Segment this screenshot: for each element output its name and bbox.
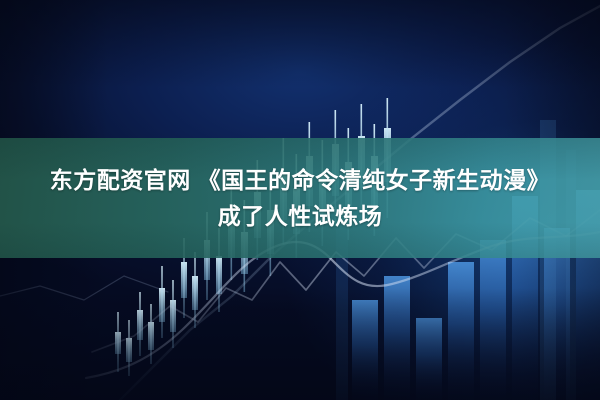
title-line-2: 成了人性试炼场 — [218, 201, 383, 231]
promo-banner: 东方配资官网 《国王的命令清纯女子新生动漫》 成了人性试炼场 — [0, 0, 600, 400]
title-line-1: 东方配资官网 《国王的命令清纯女子新生动漫》 — [50, 165, 550, 195]
banner-title: 东方配资官网 《国王的命令清纯女子新生动漫》 成了人性试炼场 — [0, 138, 600, 258]
